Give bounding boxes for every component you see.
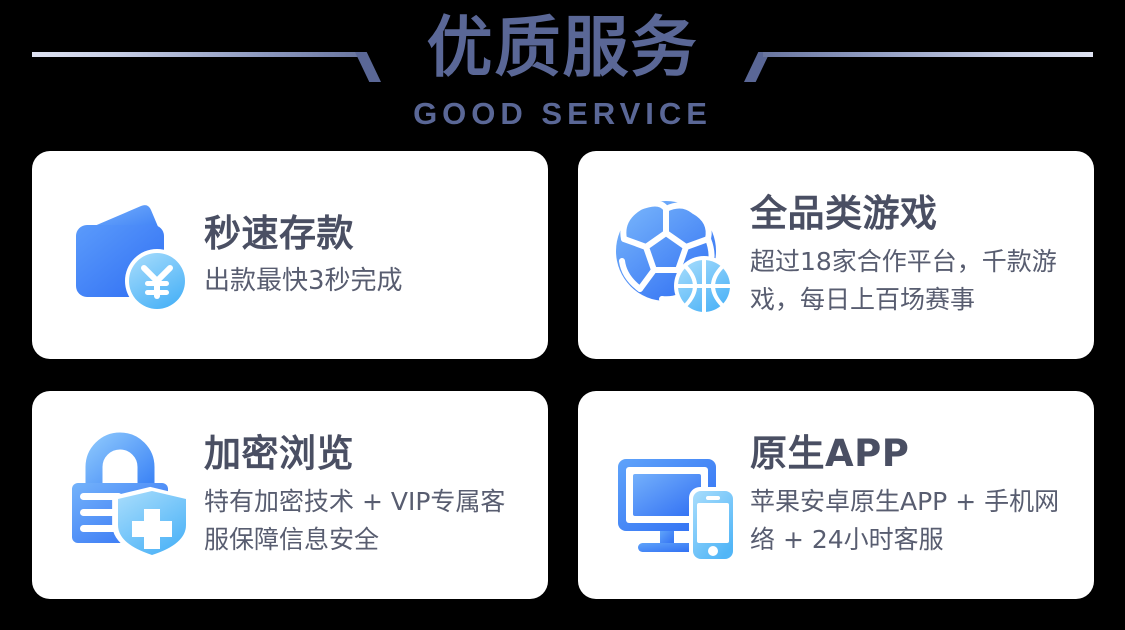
feature-card-desc: 超过18家合作平台，千款游戏，每日上百场赛事 bbox=[750, 243, 1076, 319]
feature-card-encryption[interactable]: 加密浏览 特有加密技术 + VIP专属客服保障信息安全 bbox=[32, 391, 548, 599]
wallet-icon bbox=[58, 185, 198, 325]
feature-card-native-app[interactable]: 原生APP 苹果安卓原生APP + 手机网络 + 24小时客服 bbox=[578, 391, 1094, 599]
feature-card-text: 全品类游戏 超过18家合作平台，千款游戏，每日上百场赛事 bbox=[744, 191, 1076, 319]
page-title: 优质服务 bbox=[0, 8, 1125, 88]
monitor-phone-icon bbox=[604, 425, 744, 565]
ball-sports-icon bbox=[604, 185, 744, 325]
page-subtitle: GOOD SERVICE bbox=[0, 96, 1125, 132]
feature-card-games[interactable]: 全品类游戏 超过18家合作平台，千款游戏，每日上百场赛事 bbox=[578, 151, 1094, 359]
feature-card-title: 秒速存款 bbox=[204, 211, 530, 257]
feature-card-title: 全品类游戏 bbox=[750, 191, 1076, 237]
feature-card-desc: 出款最快3秒完成 bbox=[204, 263, 530, 299]
feature-card-title: 加密浏览 bbox=[204, 431, 530, 477]
feature-card-text: 加密浏览 特有加密技术 + VIP专属客服保障信息安全 bbox=[198, 431, 530, 559]
feature-card-grid: 秒速存款 出款最快3秒完成 bbox=[32, 151, 1094, 599]
feature-card-text: 秒速存款 出款最快3秒完成 bbox=[198, 211, 530, 299]
lock-shield-icon bbox=[58, 425, 198, 565]
feature-card-title: 原生APP bbox=[750, 431, 1076, 477]
feature-card-desc: 特有加密技术 + VIP专属客服保障信息安全 bbox=[204, 483, 530, 559]
feature-card-deposit[interactable]: 秒速存款 出款最快3秒完成 bbox=[32, 151, 548, 359]
feature-card-desc: 苹果安卓原生APP + 手机网络 + 24小时客服 bbox=[750, 483, 1076, 559]
header: 优质服务 GOOD SERVICE bbox=[0, 0, 1125, 145]
feature-card-text: 原生APP 苹果安卓原生APP + 手机网络 + 24小时客服 bbox=[744, 431, 1076, 559]
promo-banner: 优质服务 GOOD SERVICE bbox=[0, 0, 1125, 630]
